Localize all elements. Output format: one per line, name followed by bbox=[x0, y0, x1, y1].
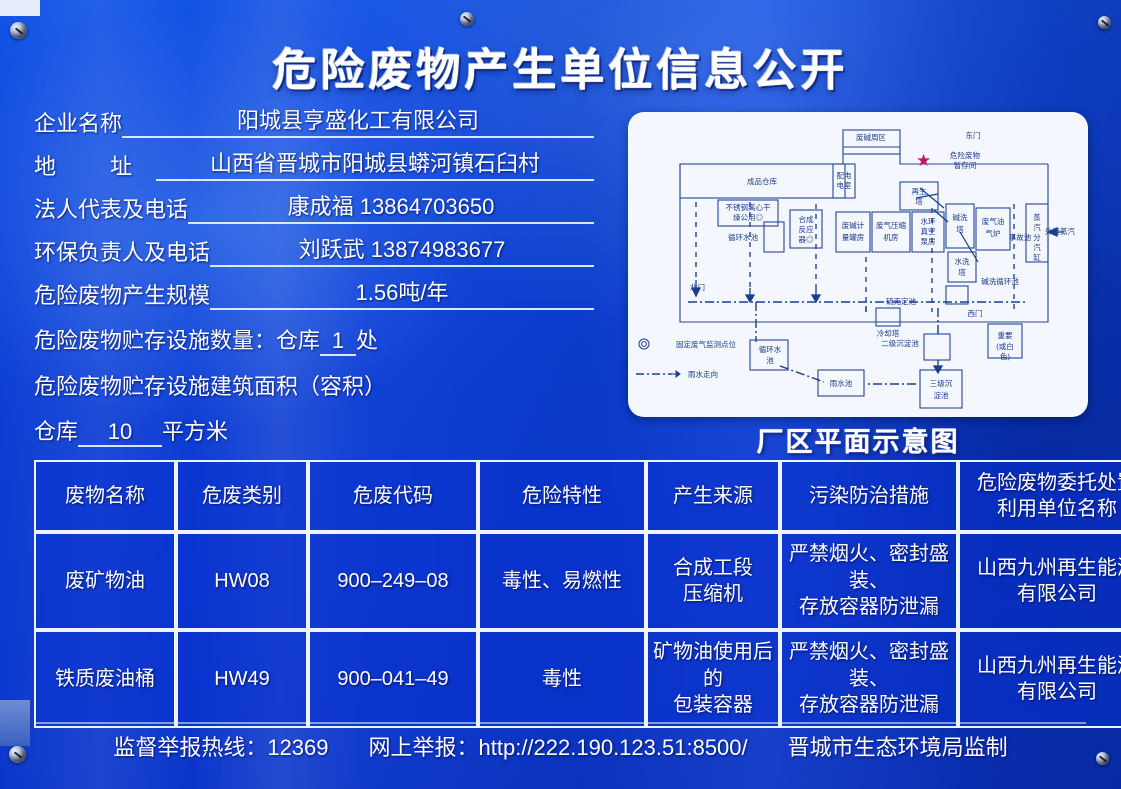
td-waste-name: 废矿物油 bbox=[34, 532, 176, 630]
th-entrusted-unit: 危险废物委托处置利用单位名称 bbox=[958, 460, 1121, 532]
svg-text:碱洗: 碱洗 bbox=[953, 212, 968, 222]
page-title: 危险废物产生单位信息公开 bbox=[0, 34, 1121, 98]
svg-text:电室: 电室 bbox=[837, 180, 852, 190]
td-waste-category: HW49 bbox=[176, 630, 308, 728]
svg-text:塔: 塔 bbox=[915, 196, 923, 206]
svg-text:废气油: 废气油 bbox=[982, 216, 1005, 226]
svg-text:废碱计: 废碱计 bbox=[842, 220, 865, 230]
value-generation-scale: 1.56吨/年 bbox=[210, 275, 594, 310]
th-waste-code: 危废代码 bbox=[308, 460, 478, 532]
svg-text:废碱周区: 废碱周区 bbox=[856, 132, 886, 142]
svg-text:色): 色) bbox=[1000, 351, 1010, 361]
value-warehouse-area: 10 bbox=[78, 419, 162, 447]
screw-bottom-left-icon bbox=[9, 746, 26, 763]
svg-text:不锈钢离心干: 不锈钢离心干 bbox=[726, 202, 771, 212]
svg-text:废气压缩: 废气压缩 bbox=[876, 220, 906, 230]
svg-text:配电: 配电 bbox=[837, 170, 852, 180]
board-top-edge bbox=[0, 0, 40, 16]
svg-text:缸: 缸 bbox=[1033, 252, 1041, 262]
table-header-row: 废物名称 危废类别 危废代码 危险特性 产生来源 污染防治措施 危险废物委托处置… bbox=[34, 460, 1121, 532]
svg-text:塔: 塔 bbox=[958, 267, 966, 277]
info-row-area-value: 仓库10平方米 bbox=[34, 414, 594, 447]
value-facility-count: 1 bbox=[320, 328, 356, 356]
th-waste-category: 危废类别 bbox=[176, 460, 308, 532]
svg-text:泵房: 泵房 bbox=[921, 236, 936, 246]
svg-text:事故池: 事故池 bbox=[1009, 232, 1032, 242]
info-row-address: 地 址 山西省晋城市阳城县蟒河镇石臼村 bbox=[34, 151, 594, 181]
svg-text:真空: 真空 bbox=[921, 226, 936, 236]
svg-text:池: 池 bbox=[766, 355, 774, 365]
td-source: 合成工段压缩机 bbox=[646, 532, 780, 630]
svg-text:硫无定池: 硫无定池 bbox=[886, 296, 916, 306]
td-waste-category: HW08 bbox=[176, 532, 308, 630]
svg-text:合成: 合成 bbox=[799, 214, 814, 224]
footer-authority: 晋城市生态环境局监制 bbox=[788, 730, 1008, 762]
th-hazard-property: 危险特性 bbox=[478, 460, 646, 532]
td-waste-code: 900–249–08 bbox=[308, 532, 478, 630]
svg-text:成品仓库: 成品仓库 bbox=[747, 176, 777, 186]
svg-text:冷却塔: 冷却塔 bbox=[877, 328, 900, 338]
info-row-legal-rep: 法人代表及电话 康成福 13864703650 bbox=[34, 194, 594, 224]
screw-bottom-right-icon bbox=[1096, 752, 1109, 765]
td-waste-name: 铁质废油桶 bbox=[34, 630, 176, 728]
svg-text:再生: 再生 bbox=[912, 186, 927, 196]
svg-text:碱洗循环池: 碱洗循环池 bbox=[981, 276, 1019, 286]
screw-top-middle-icon bbox=[460, 12, 474, 26]
label-company-name: 企业名称 bbox=[34, 106, 122, 138]
svg-text:反应: 反应 bbox=[799, 224, 814, 234]
suffix-facility-count: 处 bbox=[356, 328, 378, 353]
info-row-area-label: 危险废物贮存设施建筑面积（容积） bbox=[34, 369, 594, 401]
svg-text:危险废物: 危险废物 bbox=[950, 150, 980, 160]
value-company-name: 阳城县亨盛化工有限公司 bbox=[122, 103, 594, 138]
info-row-env-officer: 环保负责人及电话 刘跃武 13874983677 bbox=[34, 237, 594, 267]
th-waste-name: 废物名称 bbox=[34, 460, 176, 532]
svg-text:塔: 塔 bbox=[956, 224, 964, 234]
svg-text:北门: 北门 bbox=[690, 283, 705, 292]
td-hazard-property: 毒性 bbox=[478, 630, 646, 728]
svg-text:淀池: 淀池 bbox=[934, 390, 949, 400]
company-info-block: 企业名称 阳城县亨盛化工有限公司 地 址 山西省晋城市阳城县蟒河镇石臼村 法人代… bbox=[34, 108, 594, 460]
svg-text:三级沉: 三级沉 bbox=[930, 378, 953, 388]
table-row: 铁质废油桶 HW49 900–041–49 毒性 矿物油使用后的包装容器 严禁烟… bbox=[34, 630, 1121, 728]
label-legal-rep: 法人代表及电话 bbox=[34, 192, 188, 224]
th-measures: 污染防治措施 bbox=[780, 460, 958, 532]
svg-text:器◎: 器◎ bbox=[799, 235, 814, 244]
svg-text:东门: 东门 bbox=[966, 130, 981, 140]
label-generation-scale: 危险废物产生规模 bbox=[34, 278, 210, 310]
svg-text:机房: 机房 bbox=[884, 232, 899, 242]
footer-online-report: 网上举报：http://222.190.123.51:8500/ bbox=[369, 730, 748, 762]
footer-hotline: 监督举报热线：12369 bbox=[113, 730, 328, 762]
svg-text:二级沉淀池: 二级沉淀池 bbox=[881, 338, 919, 348]
svg-text:雨水走向: 雨水走向 bbox=[688, 369, 718, 379]
footer-divider bbox=[34, 722, 1086, 724]
svg-text:水洗: 水洗 bbox=[955, 256, 970, 266]
td-measures: 严禁烟火、密封盛装、存放容器防泄漏 bbox=[780, 532, 958, 630]
svg-text:外接蒸汽: 外接蒸汽 bbox=[1045, 226, 1075, 236]
hazardous-waste-star-icon: ★ bbox=[916, 151, 931, 170]
svg-text:燥公用◎: 燥公用◎ bbox=[733, 213, 763, 222]
label-warehouse: 仓库 bbox=[34, 419, 78, 444]
svg-text:(或白: (或白 bbox=[996, 341, 1014, 351]
td-entrusted-unit: 山西九州再生能源有限公司 bbox=[958, 630, 1121, 728]
site-plan-caption: 厂区平面示意图 bbox=[628, 420, 1088, 459]
svg-text:西门: 西门 bbox=[968, 309, 983, 318]
svg-text:分: 分 bbox=[1033, 233, 1041, 242]
svg-text:蒸: 蒸 bbox=[1033, 212, 1041, 222]
td-entrusted-unit: 山西九州再生能源有限公司 bbox=[958, 532, 1121, 630]
label-env-officer: 环保负责人及电话 bbox=[34, 235, 210, 267]
svg-text:固定废气监测点位: 固定废气监测点位 bbox=[676, 339, 736, 349]
hazardous-waste-table: 废物名称 危废类别 危废代码 危险特性 产生来源 污染防治措施 危险废物委托处置… bbox=[34, 460, 1121, 728]
td-hazard-property: 毒性、易燃性 bbox=[478, 532, 646, 630]
value-address: 山西省晋城市阳城县蟒河镇石臼村 bbox=[156, 146, 594, 181]
information-board: 危险废物产生单位信息公开 企业名称 阳城县亨盛化工有限公司 地 址 山西省晋城市… bbox=[0, 0, 1121, 789]
info-row-generation-scale: 危险废物产生规模 1.56吨/年 bbox=[34, 280, 594, 310]
svg-text:气炉: 气炉 bbox=[986, 228, 1001, 238]
suffix-square-meter: 平方米 bbox=[162, 419, 228, 444]
site-plan-diagram: ★ 成品仓库 配电电室 废碱周区 再生塔 危险废物暂存间 东门 不锈钢离心干燥公… bbox=[628, 112, 1088, 417]
svg-text:暂存间: 暂存间 bbox=[954, 160, 977, 170]
svg-text:汽: 汽 bbox=[1033, 242, 1041, 252]
td-waste-code: 900–041–49 bbox=[308, 630, 478, 728]
table-row: 废矿物油 HW08 900–249–08 毒性、易燃性 合成工段压缩机 严禁烟火… bbox=[34, 532, 1121, 630]
svg-text:循环水: 循环水 bbox=[759, 344, 782, 354]
td-source: 矿物油使用后的包装容器 bbox=[646, 630, 780, 728]
svg-text:水环: 水环 bbox=[921, 216, 936, 226]
label-address: 地 址 bbox=[34, 149, 156, 181]
svg-text:汽: 汽 bbox=[1033, 222, 1041, 232]
value-legal-rep: 康成福 13864703650 bbox=[188, 189, 594, 224]
svg-text:循环水池: 循环水池 bbox=[728, 232, 758, 242]
screw-top-left-icon bbox=[10, 22, 27, 39]
info-row-company-name: 企业名称 阳城县亨盛化工有限公司 bbox=[34, 108, 594, 138]
label-facility-count: 危险废物贮存设施数量：仓库 bbox=[34, 328, 320, 353]
th-source: 产生来源 bbox=[646, 460, 780, 532]
td-measures: 严禁烟火、密封盛装、存放容器防泄漏 bbox=[780, 630, 958, 728]
svg-text:量罐房: 量罐房 bbox=[842, 232, 865, 242]
svg-text:雨水池: 雨水池 bbox=[830, 378, 853, 388]
footer-bar: 监督举报热线：12369 网上举报：http://222.190.123.51:… bbox=[0, 730, 1121, 762]
plan-legend: 固定废气监测点位 雨水走向 bbox=[636, 339, 736, 379]
screw-top-right-icon bbox=[1098, 16, 1111, 29]
info-row-facility-count: 危险废物贮存设施数量：仓库1处 bbox=[34, 323, 594, 356]
svg-text:重要: 重要 bbox=[998, 331, 1013, 340]
value-env-officer: 刘跃武 13874983677 bbox=[210, 232, 594, 267]
